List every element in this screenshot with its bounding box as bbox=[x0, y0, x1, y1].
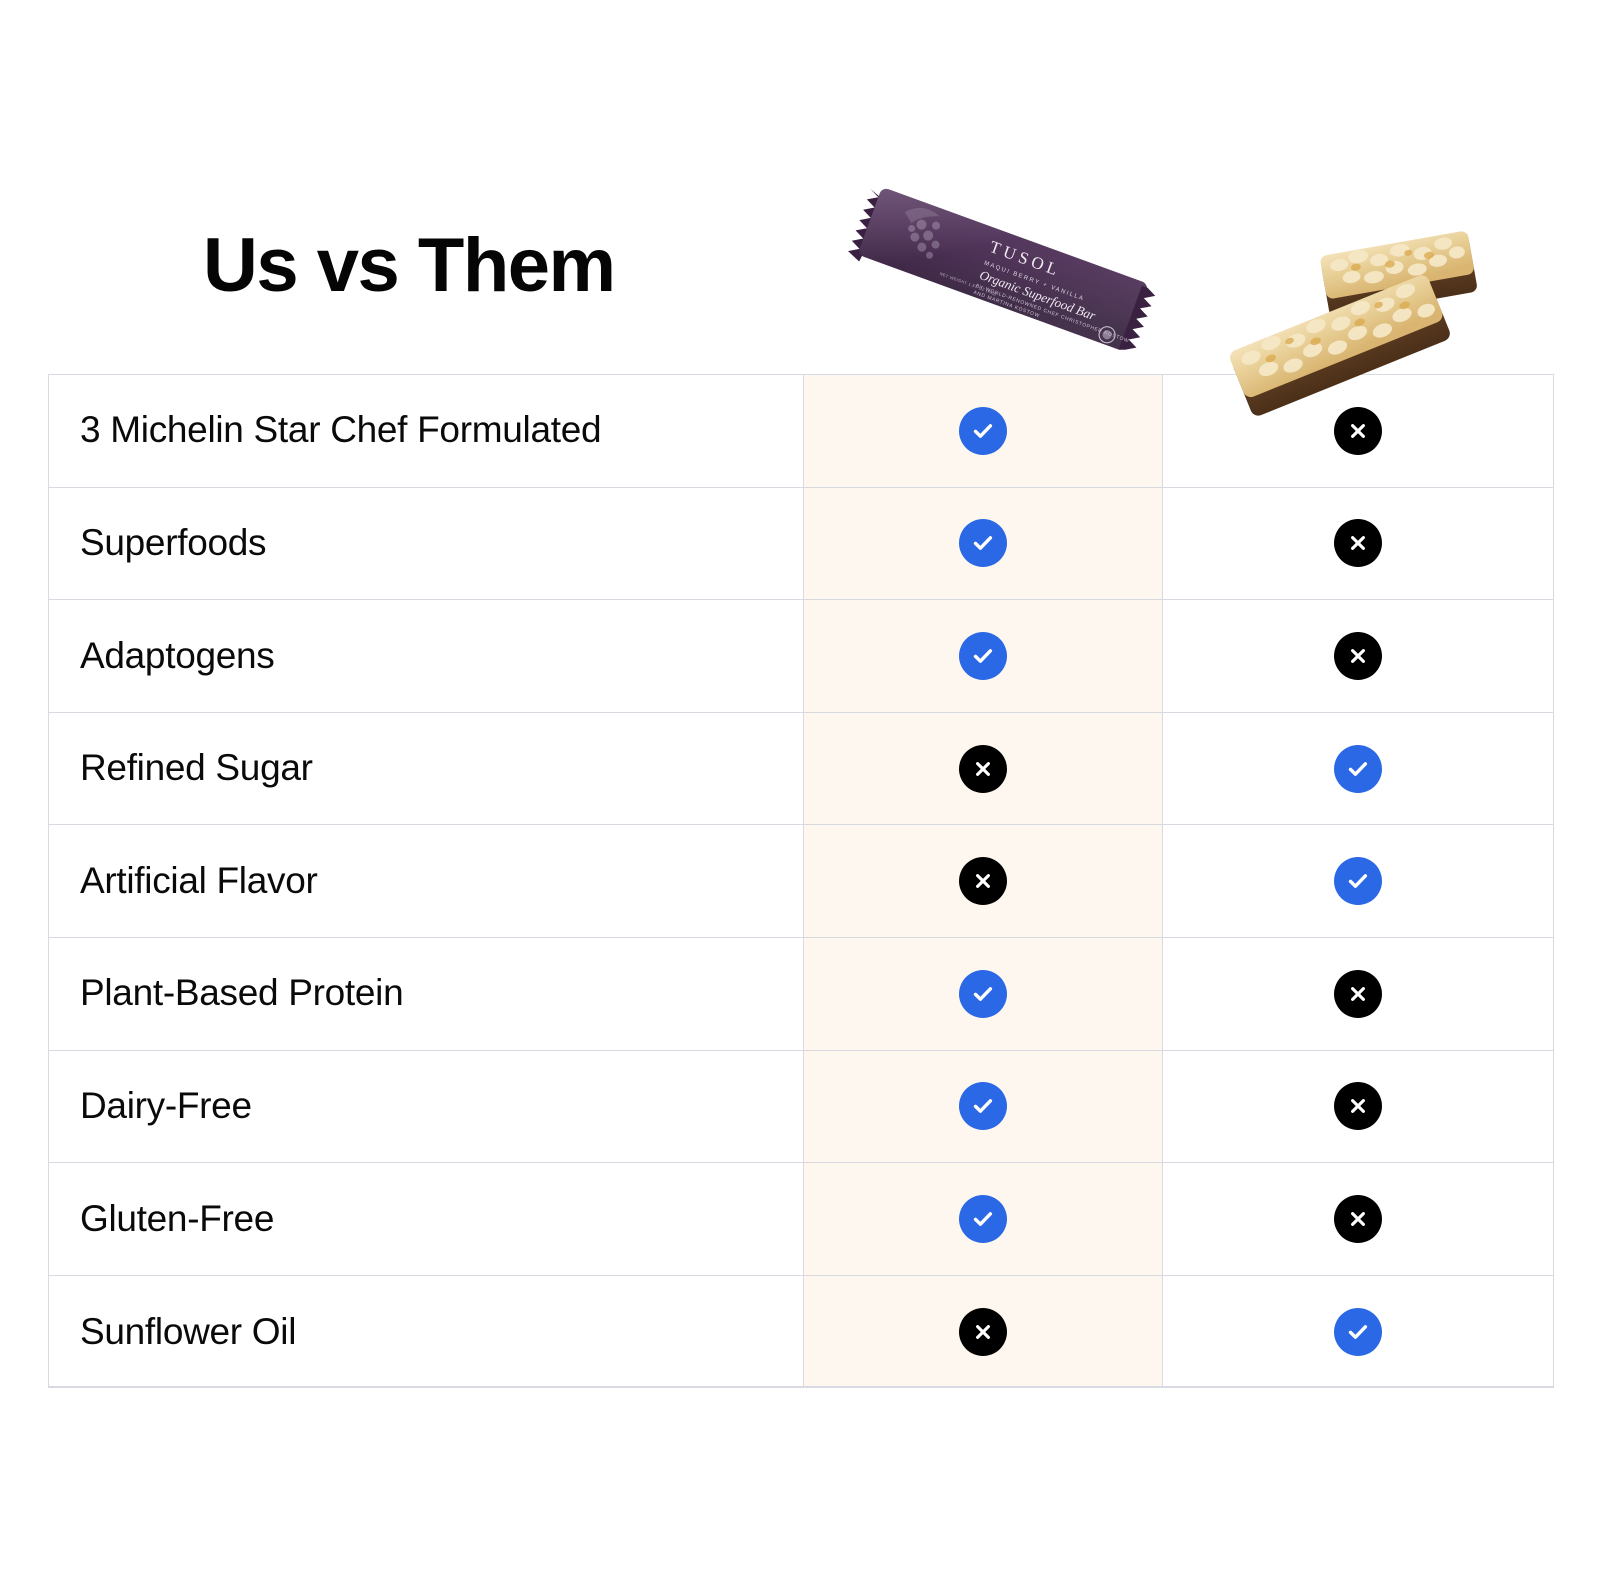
x-circle-icon bbox=[1334, 1082, 1382, 1130]
table-row: Artificial Flavor bbox=[49, 825, 1553, 938]
table-row: Sunflower Oil bbox=[49, 1276, 1553, 1389]
cell-them bbox=[1163, 825, 1553, 937]
cell-them bbox=[1163, 1163, 1553, 1275]
comparison-table: 3 Michelin Star Chef FormulatedSuperfood… bbox=[48, 374, 1554, 1388]
cell-them bbox=[1163, 600, 1553, 712]
svg-text:MAQUI BERRY + VANILLA: MAQUI BERRY + VANILLA bbox=[983, 261, 1085, 303]
tusol-superfood-bar-package-image: TUSOL MAQUI BERRY + VANILLA Organic Supe… bbox=[826, 176, 1166, 402]
check-circle-icon bbox=[959, 970, 1007, 1018]
cell-us bbox=[803, 713, 1163, 825]
table-row: Adaptogens bbox=[49, 600, 1553, 713]
x-circle-icon bbox=[959, 1308, 1007, 1356]
table-row: Superfoods bbox=[49, 488, 1553, 601]
svg-text:TUSOL: TUSOL bbox=[987, 237, 1064, 280]
cell-us bbox=[803, 375, 1163, 487]
table-row: Dairy-Free bbox=[49, 1051, 1553, 1164]
check-circle-icon bbox=[1334, 857, 1382, 905]
check-circle-icon bbox=[959, 1195, 1007, 1243]
row-label: Refined Sugar bbox=[49, 748, 803, 789]
cell-them bbox=[1163, 713, 1553, 825]
cell-us bbox=[803, 600, 1163, 712]
check-circle-icon bbox=[959, 1082, 1007, 1130]
check-circle-icon bbox=[959, 407, 1007, 455]
table-row: Plant-Based Protein bbox=[49, 938, 1553, 1051]
comparison-chart-page: Us vs Them bbox=[0, 0, 1602, 1596]
cell-us bbox=[803, 1051, 1163, 1163]
x-circle-icon bbox=[1334, 519, 1382, 567]
check-circle-icon bbox=[1334, 745, 1382, 793]
x-circle-icon bbox=[1334, 407, 1382, 455]
table-body: 3 Michelin Star Chef FormulatedSuperfood… bbox=[49, 375, 1553, 1388]
check-circle-icon bbox=[959, 632, 1007, 680]
cell-them bbox=[1163, 375, 1553, 487]
cell-them bbox=[1163, 1276, 1553, 1389]
cell-them bbox=[1163, 938, 1553, 1050]
cell-us bbox=[803, 488, 1163, 600]
row-label: Dairy-Free bbox=[49, 1086, 803, 1127]
table-row: 3 Michelin Star Chef Formulated bbox=[49, 375, 1553, 488]
cell-them bbox=[1163, 488, 1553, 600]
x-circle-icon bbox=[1334, 970, 1382, 1018]
row-label: Gluten-Free bbox=[49, 1199, 803, 1240]
cell-us bbox=[803, 1276, 1163, 1389]
row-label: Adaptogens bbox=[49, 636, 803, 677]
svg-text:NET WEIGHT 1.57 OZ (45g): NET WEIGHT 1.57 OZ (45g) bbox=[939, 271, 998, 297]
row-label: 3 Michelin Star Chef Formulated bbox=[49, 410, 803, 451]
cell-us bbox=[803, 1163, 1163, 1275]
svg-text:Organic Superfood Bar: Organic Superfood Bar bbox=[978, 267, 1099, 323]
cell-us bbox=[803, 825, 1163, 937]
x-circle-icon bbox=[1334, 1195, 1382, 1243]
table-row: Gluten-Free bbox=[49, 1163, 1553, 1276]
svg-text:BY WORLD-RENOWNED CHEF CHRISTO: BY WORLD-RENOWNED CHEF CHRISTOPHER KOSTO… bbox=[975, 283, 1130, 344]
check-circle-icon bbox=[1334, 1308, 1382, 1356]
x-circle-icon bbox=[959, 857, 1007, 905]
row-label: Superfoods bbox=[49, 523, 803, 564]
row-label: Sunflower Oil bbox=[49, 1312, 803, 1353]
check-circle-icon bbox=[959, 519, 1007, 567]
row-label: Plant-Based Protein bbox=[49, 973, 803, 1014]
row-label: Artificial Flavor bbox=[49, 861, 803, 902]
svg-text:AND MARTINA KOSTOW: AND MARTINA KOSTOW bbox=[972, 290, 1040, 320]
table-row: Refined Sugar bbox=[49, 713, 1553, 826]
x-circle-icon bbox=[959, 745, 1007, 793]
cell-us bbox=[803, 938, 1163, 1050]
x-circle-icon bbox=[1334, 632, 1382, 680]
page-title: Us vs Them bbox=[203, 228, 615, 304]
cell-them bbox=[1163, 1051, 1553, 1163]
